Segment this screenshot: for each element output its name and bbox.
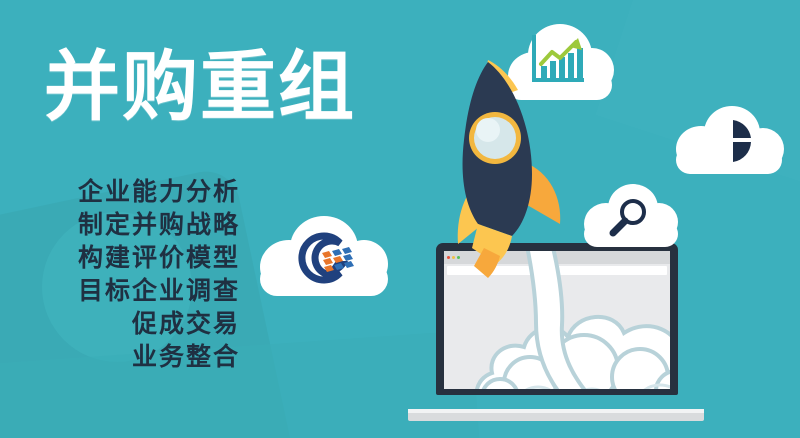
brand-g-logo-icon	[296, 231, 354, 285]
promo-banner: 并购重组 企业能力分析 制定并购战略 构建评价模型 目标企业调查 促成交易 业务…	[0, 0, 800, 438]
list-item: 构建评价模型	[0, 242, 240, 275]
list-item: 促成交易	[0, 308, 240, 341]
list-item: 业务整合	[0, 341, 240, 374]
list-item: 目标企业调查	[0, 275, 240, 308]
feature-list: 企业能力分析 制定并购战略 构建评价模型 目标企业调查 促成交易 业务整合	[0, 176, 260, 374]
list-item: 企业能力分析	[0, 176, 240, 209]
magnifier-icon	[608, 196, 650, 238]
banner-title: 并购重组	[44, 50, 356, 126]
list-item: 制定并购战略	[0, 209, 240, 242]
pie-chart-icon	[706, 116, 756, 166]
laptop-base	[408, 409, 704, 421]
rocket-icon	[438, 52, 568, 282]
